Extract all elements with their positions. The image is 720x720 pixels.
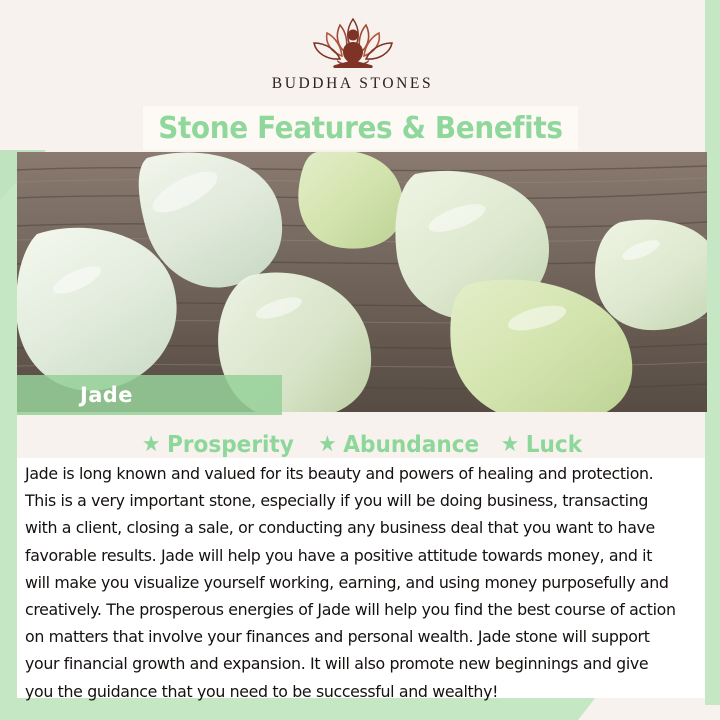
keyword-luck: ★ Luck <box>501 432 583 458</box>
stone-benefits-infographic: BUDDHA STONES Stone Features & Benefits <box>0 0 720 720</box>
keyword-label: Abundance <box>343 432 479 458</box>
keyword-abundance: ★ Abundance <box>318 432 479 458</box>
brand-name: BUDDHA STONES <box>272 75 433 93</box>
stone-name-label: Jade <box>80 383 133 407</box>
keyword-label: Luck <box>526 432 582 458</box>
keyword-row: ★ Prosperity ★ Abundance ★ Luck <box>17 428 705 462</box>
page-title: Stone Features & Benefits <box>158 111 562 146</box>
star-icon: ★ <box>142 434 161 456</box>
description-card: Jade is long known and valued for its be… <box>17 458 705 698</box>
stone-photo <box>17 152 707 412</box>
decorative-left-band <box>0 150 17 720</box>
lotus-meditation-icon <box>287 12 419 74</box>
decorative-right-band <box>705 0 720 705</box>
title-banner: Stone Features & Benefits <box>143 106 578 150</box>
keyword-label: Prosperity <box>167 432 294 458</box>
stone-name-caption: Jade <box>17 375 282 415</box>
star-icon: ★ <box>501 434 520 456</box>
brand-header: BUDDHA STONES <box>0 0 705 112</box>
description-text: Jade is long known and valued for its be… <box>25 460 680 705</box>
star-icon: ★ <box>318 434 337 456</box>
keyword-prosperity: ★ Prosperity <box>142 432 294 458</box>
